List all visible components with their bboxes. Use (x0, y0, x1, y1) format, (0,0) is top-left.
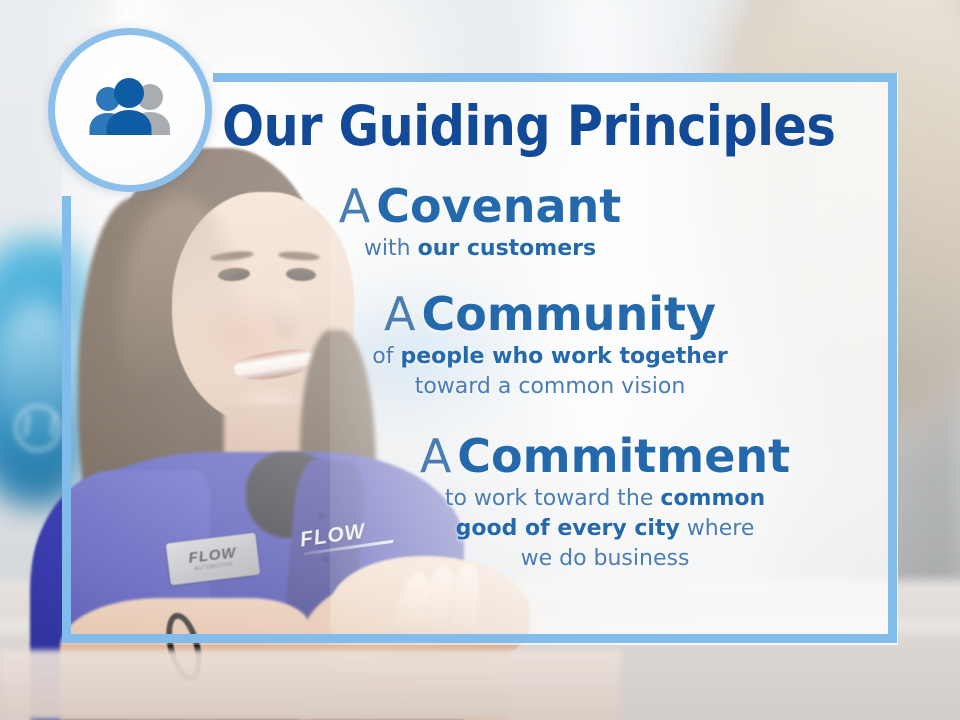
emphasis-text: people who work together (400, 344, 727, 369)
principle-title: ACovenant (80, 178, 880, 234)
emphasis-text: common (660, 486, 765, 511)
people-group-icon (84, 77, 176, 143)
plain-text: to work toward the (445, 486, 661, 511)
emphasis-text: good of every city (456, 516, 680, 541)
emphasis-text: our customers (418, 236, 597, 261)
page-title: Our Guiding Principles (222, 96, 882, 156)
principle-item: ACommitment to work toward the commongoo… (90, 428, 890, 574)
principle-word: Commitment (457, 429, 790, 483)
principle-subtext-line: to work toward the common (205, 484, 960, 514)
principle-title: ACommitment (205, 428, 960, 484)
people-group-icon-badge (48, 28, 212, 192)
principle-subtext-line: with our customers (80, 234, 880, 264)
principle-subtext-line: we do business (205, 544, 960, 574)
principle-word: Community (422, 287, 716, 341)
plain-text: we do business (521, 546, 690, 571)
plain-text: of (372, 344, 400, 369)
principles-list: ACovenant with our customers ACommunity … (90, 178, 890, 580)
plain-text: where (680, 516, 755, 541)
plain-text: toward a common vision (415, 374, 686, 399)
principle-word: Covenant (376, 179, 621, 233)
principle-article: A (384, 287, 415, 341)
principle-article: A (420, 429, 451, 483)
principle-subtext-line: good of every city where (205, 514, 960, 544)
principle-item: ACovenant with our customers (90, 178, 890, 264)
principle-title: ACommunity (150, 286, 950, 342)
principle-subtext: to work toward the commongood of every c… (205, 484, 960, 574)
principle-subtext: of people who work togethertoward a comm… (150, 342, 950, 402)
guiding-principles-banner: FLOW AUTOMOTIVE FLOW (0, 0, 960, 720)
plain-text: with (364, 236, 418, 261)
principle-item: ACommunity of people who work togetherto… (90, 286, 890, 402)
principle-subtext: with our customers (80, 234, 880, 264)
principle-subtext-line: of people who work together (150, 342, 950, 372)
principle-subtext-line: toward a common vision (150, 372, 950, 402)
table-edge (0, 650, 620, 720)
principle-article: A (339, 179, 370, 233)
